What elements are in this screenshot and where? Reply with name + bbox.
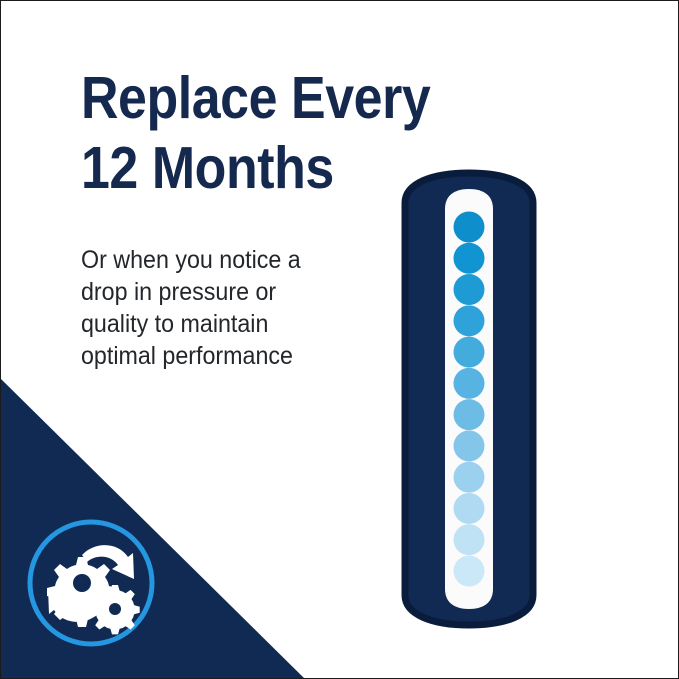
filter-life-dot	[454, 556, 485, 587]
filter-life-dot	[454, 305, 485, 336]
water-filter-cartridge	[399, 169, 539, 629]
filter-life-dot	[454, 243, 485, 274]
replacement-cycle-badge	[21, 513, 161, 653]
filter-life-dot	[454, 368, 485, 399]
filter-life-dot	[454, 493, 485, 524]
filter-life-dot	[454, 430, 485, 461]
poster-canvas: Replace Every 12 Months Or when you noti…	[0, 0, 679, 679]
gear-small-icon	[90, 585, 139, 634]
subcopy-line-1: Or when you notice a	[81, 244, 360, 276]
subcopy-line-4: optimal performance	[81, 340, 360, 372]
filter-life-dot	[454, 462, 485, 493]
subcopy-line-2: drop in pressure or	[81, 276, 360, 308]
filter-life-dot	[454, 212, 485, 243]
filter-life-dot	[454, 524, 485, 555]
filter-life-dot	[454, 274, 485, 305]
subcopy-line-3: quality to maintain	[81, 308, 360, 340]
filter-life-dot	[454, 337, 485, 368]
headline-line-2: 12 Months	[81, 133, 433, 203]
filter-life-dot	[454, 399, 485, 430]
subcopy-block: Or when you notice a drop in pressure or…	[81, 244, 381, 372]
headline-line-1: Replace Every	[81, 63, 433, 133]
